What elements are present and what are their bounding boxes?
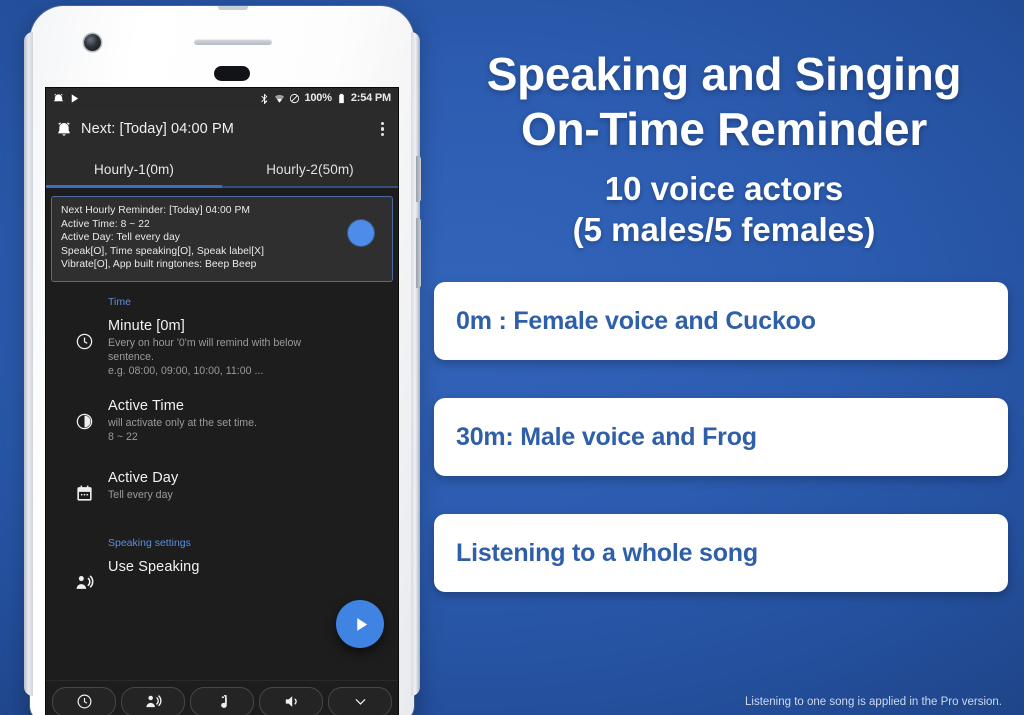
headline-line-2: On-Time Reminder — [424, 102, 1024, 157]
summary-line-next: Next Hourly Reminder: [Today] 04:00 PM — [61, 204, 339, 218]
tab-active-indicator — [46, 185, 222, 188]
tab-bar: Hourly-1(0m) Hourly-2(50m) — [46, 150, 398, 188]
status-bar-clock: 2:54 PM — [351, 92, 391, 104]
list-item-body: Minute [0m] Every on hour '0'm will remi… — [108, 318, 384, 378]
battery-percent-label: 100% — [304, 92, 331, 104]
wifi-icon — [274, 93, 285, 104]
list-item-body: Use Speaking — [108, 559, 384, 592]
list-item-title: Active Day — [108, 470, 378, 486]
chevron-down-icon — [352, 693, 369, 710]
battery-icon — [336, 93, 347, 104]
summary-line-speak: Speak[O], Time speaking[O], Speak label[… — [61, 245, 339, 259]
earpiece-speaker — [194, 39, 272, 45]
summary-line-active-day: Active Day: Tell every day — [61, 231, 339, 245]
section-label-speaking: Speaking settings — [46, 507, 398, 553]
promo-panel: Speaking and Singing On-Time Reminder 10… — [424, 0, 1024, 715]
list-item-title: Minute [0m] — [108, 318, 378, 334]
list-item-body: Active Day Tell every day — [108, 470, 384, 503]
bluetooth-icon — [259, 93, 270, 104]
half-moon-clock-icon — [60, 398, 108, 444]
reminder-summary-lines: Next Hourly Reminder: [Today] 04:00 PM A… — [61, 204, 339, 272]
nav-button-collapse[interactable] — [328, 687, 392, 715]
volume-button[interactable] — [416, 218, 421, 288]
reminder-summary-card[interactable]: Next Hourly Reminder: [Today] 04:00 PM A… — [51, 196, 393, 282]
headline-line-1: Speaking and Singing — [424, 47, 1024, 102]
nav-button-clock[interactable] — [52, 687, 116, 715]
list-item-sub-3: e.g. 08:00, 09:00, 10:00, 11:00 ... — [108, 364, 378, 378]
list-item-sub-1: will activate only at the set time. — [108, 416, 378, 430]
nav-button-speaking[interactable] — [121, 687, 185, 715]
app-bar: Next: [Today] 04:00 PM — [46, 108, 398, 150]
phone-mockup: 100% 2:54 PM Next: [Today] 04:00 PM Hour… — [22, 6, 422, 715]
do-not-disturb-icon — [289, 93, 300, 104]
feature-card-label: 30m: Male voice and Frog — [456, 423, 757, 452]
list-item-title: Active Time — [108, 398, 378, 414]
person-speaking-icon — [60, 559, 108, 592]
subline-line-2: (5 males/5 females) — [424, 209, 1024, 250]
list-item-sub-1: Tell every day — [108, 488, 378, 502]
list-item-sub-2: sentence. — [108, 350, 378, 364]
play-icon — [353, 616, 370, 633]
feature-card-label: 0m : Female voice and Cuckoo — [456, 307, 816, 336]
play-icon — [69, 93, 80, 104]
subline-line-1: 10 voice actors — [424, 168, 1024, 209]
feature-card-30m: 30m: Male voice and Frog — [434, 398, 1008, 476]
promo-subheadline: 10 voice actors (5 males/5 females) — [424, 157, 1024, 250]
nav-button-volume[interactable] — [259, 687, 323, 715]
volume-icon — [283, 693, 300, 710]
bell-icon — [56, 121, 72, 137]
phone-top-notch — [218, 6, 248, 10]
feature-card-0m: 0m : Female voice and Cuckoo — [434, 282, 1008, 360]
promo-footnote: Listening to one song is applied in the … — [745, 696, 1002, 708]
reminder-toggle[interactable] — [339, 204, 383, 246]
settings-list: Time Minute [0m] Every on hour '0'm will… — [46, 282, 398, 658]
nav-button-music[interactable] — [190, 687, 254, 715]
tab-hourly-1[interactable]: Hourly-1(0m) — [46, 150, 222, 188]
list-item-minute[interactable]: Minute [0m] Every on hour '0'm will remi… — [46, 312, 398, 382]
list-item-sub-1: Every on hour '0'm will remind with belo… — [108, 336, 378, 350]
person-speaking-icon — [145, 693, 162, 710]
bottom-navigation-bar — [46, 680, 398, 715]
clock-icon — [76, 693, 93, 710]
tab-hourly-2[interactable]: Hourly-2(50m) — [222, 150, 398, 188]
list-item-active-time[interactable]: Active Time will activate only at the se… — [46, 382, 398, 448]
front-camera — [84, 34, 101, 51]
alarm-icon — [53, 93, 64, 104]
clock-icon — [60, 318, 108, 378]
promo-headline: Speaking and Singing On-Time Reminder — [424, 0, 1024, 157]
status-bar: 100% 2:54 PM — [46, 88, 398, 108]
status-bar-right: 100% 2:54 PM — [259, 92, 391, 104]
feature-card-list: 0m : Female voice and Cuckoo 30m: Male v… — [424, 250, 1024, 592]
app-bar-title: Next: [Today] 04:00 PM — [81, 121, 234, 137]
summary-line-vibrate: Vibrate[O], App built ringtones: Beep Be… — [61, 258, 339, 272]
phone-screen: 100% 2:54 PM Next: [Today] 04:00 PM Hour… — [46, 88, 398, 715]
kebab-menu-icon[interactable] — [377, 118, 388, 141]
phone-left-edge — [24, 32, 33, 696]
list-item-title: Use Speaking — [108, 559, 378, 575]
list-item-body: Active Time will activate only at the se… — [108, 398, 384, 444]
summary-line-active-time: Active Time: 8 ~ 22 — [61, 218, 339, 232]
list-item-use-speaking[interactable]: Use Speaking — [46, 553, 398, 596]
power-button[interactable] — [416, 156, 421, 202]
section-label-time: Time — [46, 282, 398, 312]
proximity-sensor — [214, 66, 250, 81]
phone-right-edge — [411, 32, 420, 696]
list-item-sub-2: 8 ~ 22 — [108, 430, 378, 444]
play-fab-button[interactable] — [336, 600, 384, 648]
feature-card-label: Listening to a whole song — [456, 539, 758, 568]
status-bar-left-icons — [53, 93, 80, 104]
list-item-active-day[interactable]: Active Day Tell every day — [46, 448, 398, 507]
toggle-thumb — [348, 220, 374, 246]
feature-card-whole-song: Listening to a whole song — [434, 514, 1008, 592]
music-note-icon — [214, 693, 231, 710]
calendar-icon — [60, 470, 108, 503]
